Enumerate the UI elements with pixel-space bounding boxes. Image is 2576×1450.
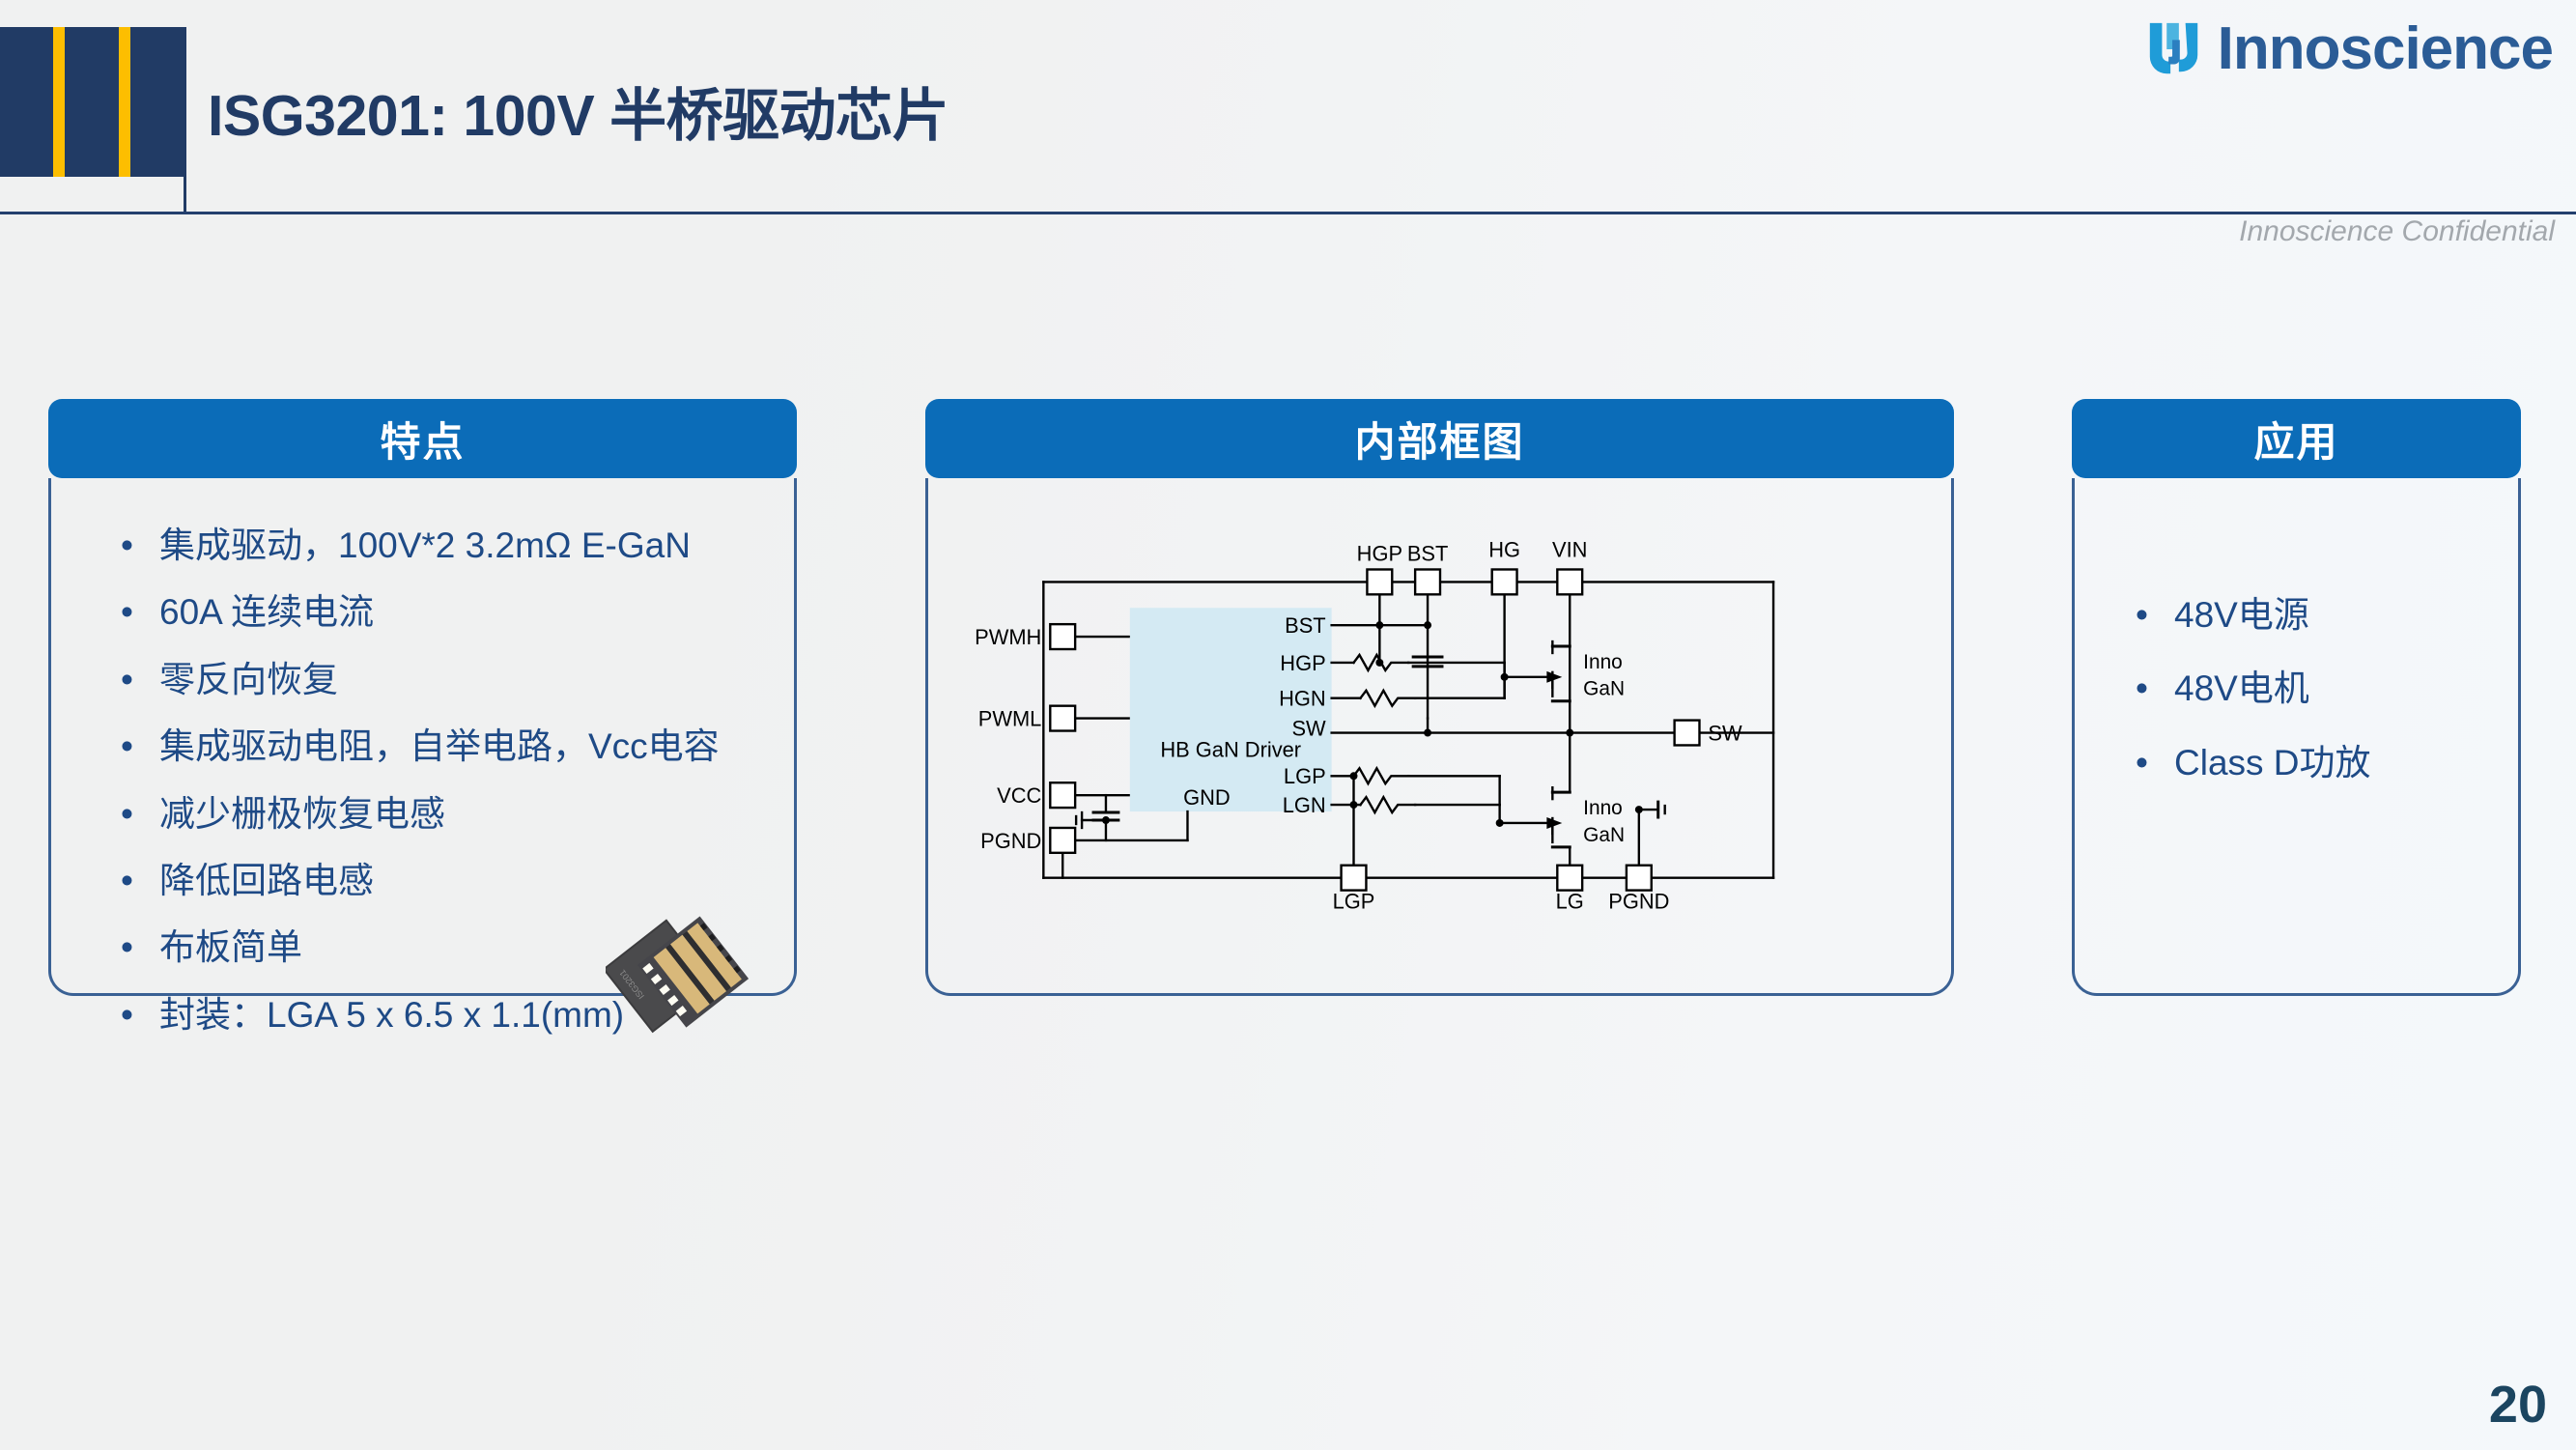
pin-label-vin-top: VIN (1552, 538, 1587, 562)
list-item: •集成驱动电阻，自举电路，Vcc电容 (121, 725, 765, 768)
internal-block-diagram: PWMH PWML VCC PGND HGP BST HG VIN LGP LG… (928, 478, 1951, 993)
core-pin-label-hgn: HGN (1279, 687, 1326, 711)
device-label-lo-inno: Inno (1583, 797, 1623, 819)
applications-card: 应用 •48V电源 •48V电机 •Class D功放 (2072, 399, 2521, 996)
innoscience-logo-text: Innoscience (2218, 19, 2553, 79)
list-item: •减少栅极恢复电感 (121, 793, 765, 836)
list-item: •48V电机 (2136, 668, 2499, 710)
page-number: 20 (2489, 1375, 2547, 1435)
pin-bst-top (1415, 569, 1440, 594)
bullet-glyph: • (2136, 668, 2174, 710)
pin-lgp-bottom (1342, 866, 1367, 891)
pin-pwml (1050, 706, 1075, 731)
applications-bullet-list: •48V电源 •48V电机 •Class D功放 (2075, 594, 2518, 784)
list-item: •60A 连续电流 (121, 591, 765, 634)
device-label-lo-gan: GaN (1583, 824, 1625, 846)
slide-header: ISG3201: 100V 半桥驱动芯片 Innoscience Innosci… (0, 0, 2576, 216)
features-card-header: 特点 (48, 399, 797, 478)
pin-hg-top (1492, 569, 1517, 594)
list-item: •零反向恢复 (121, 659, 765, 701)
pin-label-lgp-bottom: LGP (1333, 889, 1375, 913)
confidential-notice: Innoscience Confidential (2239, 215, 2555, 248)
pin-label-lg-bottom: LG (1556, 889, 1584, 913)
bullet-glyph: • (121, 860, 159, 902)
bullet-glyph: • (121, 793, 159, 836)
pin-vcc (1050, 782, 1075, 808)
bullet-glyph: • (121, 926, 159, 969)
bullet-glyph: • (121, 591, 159, 634)
pin-label-pwmh: PWMH (975, 625, 1041, 649)
core-pin-label-lgp: LGP (1284, 764, 1326, 788)
pin-label-hgp-top: HGP (1357, 542, 1402, 566)
pin-label-pgnd-left: PGND (980, 829, 1041, 853)
lga-package-photo-image: ISG3201 (606, 894, 765, 1038)
applications-card-header: 应用 (2072, 399, 2521, 478)
list-item-label: 集成驱动，100V*2 3.2mΩ E-GaN (159, 525, 765, 567)
pin-hgp-top (1367, 569, 1392, 594)
pin-pgnd-bottom (1627, 866, 1652, 891)
bullet-glyph: • (121, 725, 159, 768)
device-label-hi-gan: GaN (1583, 678, 1625, 700)
pin-pgnd-left (1050, 828, 1075, 853)
header-divider-rule (0, 212, 2576, 214)
pin-label-sw-right: SW (1708, 721, 1742, 745)
list-item-label: 48V电源 (2174, 594, 2499, 637)
list-item-label: 零反向恢复 (159, 659, 765, 701)
page-title: ISG3201: 100V 半桥驱动芯片 (208, 70, 948, 152)
list-item-label: 48V电机 (2174, 668, 2499, 710)
bullet-glyph: • (121, 525, 159, 567)
pin-sw-right (1675, 721, 1700, 746)
innoscience-logo-mark-icon (2144, 19, 2204, 79)
core-pin-label-hgp: HGP (1280, 651, 1325, 675)
core-pin-label-bst: BST (1285, 613, 1326, 638)
pin-pwmh (1050, 624, 1075, 649)
header-navy-block (0, 27, 184, 177)
list-item: •Class D功放 (2136, 742, 2499, 784)
innoscience-logo: Innoscience (2144, 19, 2553, 79)
bullet-glyph: • (121, 994, 159, 1037)
pin-label-vcc: VCC (997, 783, 1041, 808)
applications-card-body: •48V电源 •48V电机 •Class D功放 (2072, 478, 2521, 996)
block-diagram-card-header: 内部框图 (925, 399, 1954, 478)
header-gold-stripe-1 (53, 27, 65, 177)
block-diagram-card-body: PWMH PWML VCC PGND HGP BST HG VIN LGP LG… (925, 478, 1954, 996)
list-item: •集成驱动，100V*2 3.2mΩ E-GaN (121, 525, 765, 567)
block-diagram-card: 内部框图 (925, 399, 1954, 996)
header-gold-stripe-2 (119, 27, 130, 177)
pin-label-pwml: PWML (978, 707, 1042, 731)
pin-vin-top (1557, 569, 1582, 594)
bullet-glyph: • (2136, 594, 2174, 637)
list-item-label: 集成驱动电阻，自举电路，Vcc电容 (159, 725, 765, 768)
bullet-glyph: • (121, 659, 159, 701)
core-pin-label-gnd: GND (1183, 785, 1231, 810)
core-block-label: HB GaN Driver (1160, 737, 1301, 761)
list-item: •48V电源 (2136, 594, 2499, 637)
pin-label-pgnd-bottom: PGND (1608, 889, 1669, 913)
device-label-hi-inno: Inno (1583, 651, 1623, 673)
list-item-label: 60A 连续电流 (159, 591, 765, 634)
list-item-label: Class D功放 (2174, 742, 2499, 784)
bullet-glyph: • (2136, 742, 2174, 784)
list-item-label: 减少栅极恢复电感 (159, 793, 765, 836)
pin-label-bst-top: BST (1407, 542, 1449, 566)
header-corner-line (184, 27, 186, 214)
pin-label-hg-top: HG (1488, 538, 1520, 562)
core-pin-label-lgn: LGN (1283, 793, 1326, 817)
pin-lg-bottom (1557, 866, 1582, 891)
